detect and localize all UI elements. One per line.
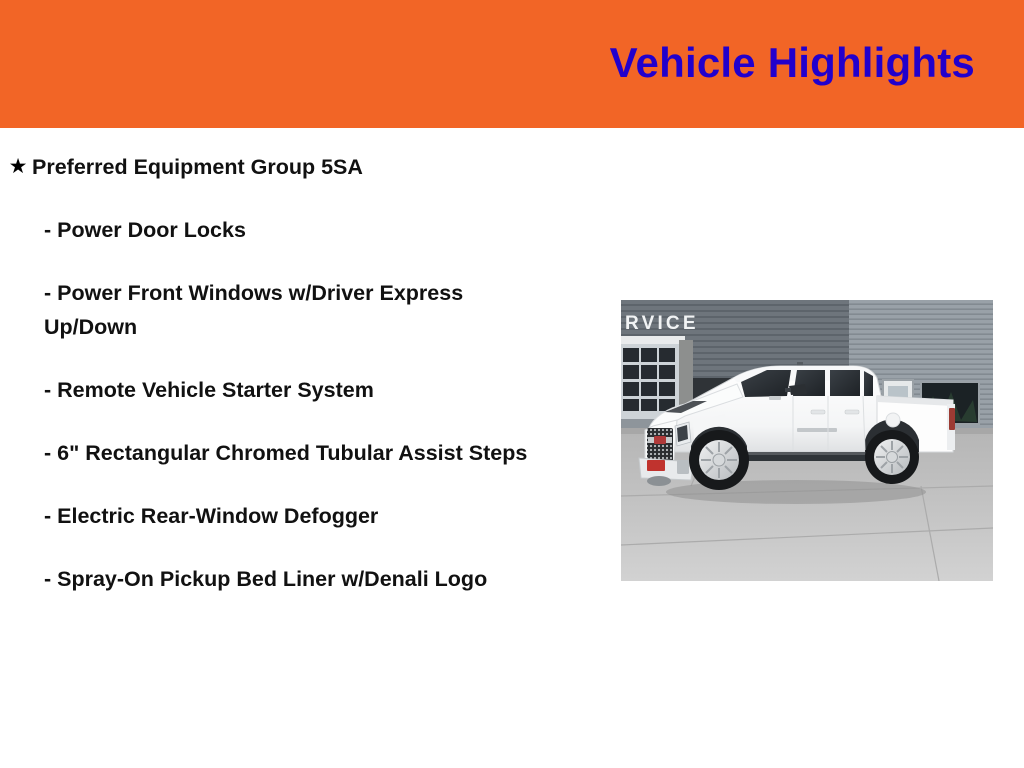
front-door-handle xyxy=(811,410,825,414)
building-sign-text: RVICE xyxy=(625,313,699,334)
list-item: - Remote Vehicle Starter System xyxy=(0,373,600,407)
tail-light xyxy=(949,408,955,430)
list-item: - Electric Rear-Window Defogger xyxy=(0,499,600,533)
headlight-lens xyxy=(677,425,688,442)
vehicle-highlights-list: ★ Preferred Equipment Group 5SA - Power … xyxy=(0,150,600,596)
list-item: - Power Front Windows w/Driver Express U… xyxy=(0,276,600,344)
vehicle-photo: RVICE xyxy=(621,300,993,581)
gmc-emblem xyxy=(654,436,666,444)
dealer-license-plate xyxy=(647,460,665,471)
tow-hook-area xyxy=(647,476,671,486)
rear-door-handle xyxy=(845,410,859,414)
rear-wheel xyxy=(865,430,919,484)
list-item-label: - 6" Rectangular Chromed Tubular Assist … xyxy=(32,436,527,470)
page-title: Vehicle Highlights xyxy=(610,38,975,88)
vehicle-photo-illustration: RVICE xyxy=(621,300,993,581)
list-item: ★ Preferred Equipment Group 5SA xyxy=(0,150,600,184)
denali-badge xyxy=(797,428,837,432)
running-board-highlight xyxy=(745,452,867,455)
fender-badge xyxy=(769,396,781,400)
list-item: - Spray-On Pickup Bed Liner w/Denali Log… xyxy=(0,562,600,596)
list-item: - Power Door Locks xyxy=(0,213,600,247)
front-wheel xyxy=(689,430,749,490)
slide-content: ★ Preferred Equipment Group 5SA - Power … xyxy=(0,128,1024,768)
header-banner: Vehicle Highlights xyxy=(0,0,1024,128)
fog-light-housing xyxy=(677,460,689,474)
rear-door-window xyxy=(830,370,860,396)
building-fascia xyxy=(621,336,685,344)
star-bullet-icon: ★ xyxy=(0,150,32,184)
list-item-label: - Remote Vehicle Starter System xyxy=(32,373,374,407)
mirror-arm xyxy=(785,388,791,392)
list-item: - 6" Rectangular Chromed Tubular Assist … xyxy=(0,436,600,470)
list-item-label: - Power Front Windows w/Driver Express U… xyxy=(32,276,544,344)
list-item-label: - Electric Rear-Window Defogger xyxy=(32,499,378,533)
list-item-label: - Power Door Locks xyxy=(32,213,246,247)
list-item-label: Preferred Equipment Group 5SA xyxy=(32,150,363,184)
list-item-label: - Spray-On Pickup Bed Liner w/Denali Log… xyxy=(32,562,487,596)
fuel-door xyxy=(886,413,900,427)
